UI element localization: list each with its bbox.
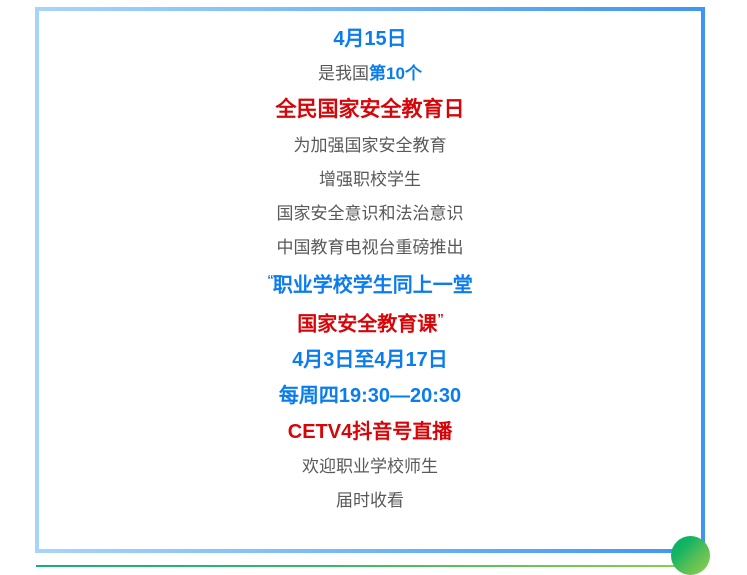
- poster-line-publisher: 中国教育电视台重磅推出: [55, 239, 685, 256]
- program-title-red-text: 国家安全教育课: [297, 313, 437, 335]
- poster-line-broadcast-dates: 4月3日至4月17日: [55, 350, 685, 370]
- poster-line-purpose-3: 国家安全意识和法治意识: [55, 205, 685, 222]
- green-circle-accent: [671, 536, 710, 575]
- poster-line-program-title-part2: 国家安全教育课”: [55, 312, 685, 335]
- poster-line-broadcast-time: 每周四19:30—20:30: [55, 386, 685, 406]
- poster-line-purpose-2: 增强职校学生: [55, 171, 685, 188]
- poster-line-purpose-1: 为加强国家安全教育: [55, 137, 685, 154]
- close-quote-mark: ”: [437, 311, 443, 326]
- poster-line-closing-2: 届时收看: [55, 492, 685, 509]
- poster-line-program-title-part1: “职业学校学生同上一堂: [55, 273, 685, 296]
- poster-line-closing-1: 欢迎职业学校师生: [55, 458, 685, 475]
- poster-line-channel: CETV4抖音号直播: [55, 422, 685, 442]
- program-title-blue-text: 职业学校学生同上一堂: [273, 275, 473, 297]
- ordinal-highlight-text: 第10个: [369, 64, 422, 83]
- green-divider-rule: [36, 565, 705, 567]
- poster-canvas: 4月15日 是我国第10个 全民国家安全教育日 为加强国家安全教育 增强职校学生…: [0, 0, 747, 575]
- poster-content: 4月15日 是我国第10个 全民国家安全教育日 为加强国家安全教育 增强职校学生…: [35, 7, 705, 553]
- ordinal-prefix-text: 是我国: [318, 64, 369, 83]
- poster-line-date-title: 4月15日: [55, 29, 685, 49]
- poster-line-main-heading: 全民国家安全教育日: [55, 99, 685, 120]
- poster-line-ordinal: 是我国第10个: [55, 65, 685, 82]
